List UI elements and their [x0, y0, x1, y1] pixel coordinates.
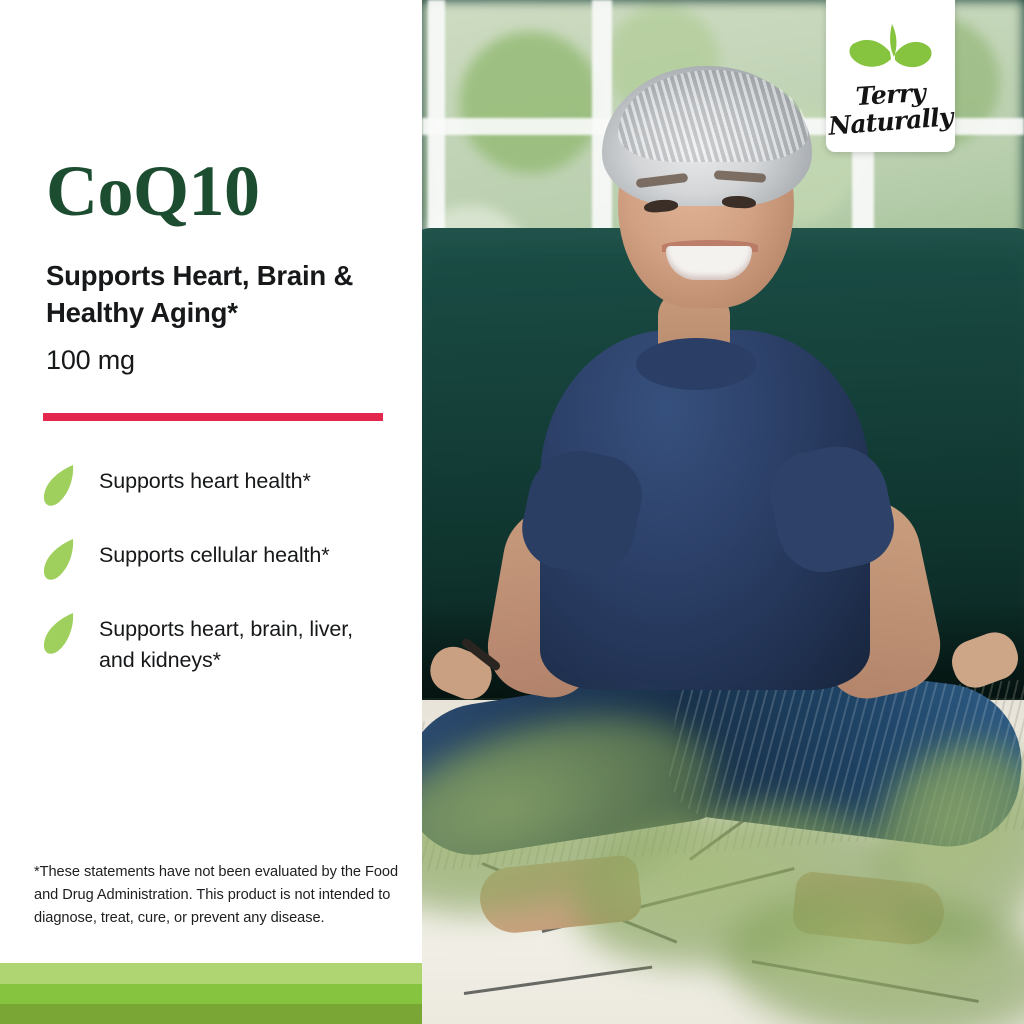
product-marketing-banner: CoQ10 Supports Heart, Brain & Healthy Ag…	[0, 0, 1024, 1024]
shirt-collar	[636, 338, 756, 390]
page-title: CoQ10	[46, 155, 260, 227]
product-dose: 100 mg	[46, 345, 135, 376]
product-info-panel: CoQ10 Supports Heart, Brain & Healthy Ag…	[0, 0, 422, 1024]
logo-wordmark: Terry Naturally	[826, 82, 955, 135]
benefits-list: Supports heart health* Supports cellular…	[43, 462, 403, 704]
footer-bar-light	[0, 963, 422, 984]
footer-color-bars	[0, 963, 422, 1024]
footer-bar-medium	[0, 984, 422, 1004]
lifestyle-photo	[422, 0, 1024, 1024]
fda-disclaimer: *These statements have not been evaluate…	[34, 861, 404, 930]
product-subtitle: Supports Heart, Brain & Healthy Aging*	[46, 258, 396, 331]
leaf-bullet-icon	[43, 612, 77, 656]
footer-bar-dark	[0, 1004, 422, 1024]
terry-naturally-logo-card[interactable]: Terry Naturally	[826, 0, 955, 152]
benefit-text: Supports cellular health*	[99, 536, 330, 571]
benefit-text: Supports heart, brain, liver, and kidney…	[99, 610, 389, 676]
accent-divider	[43, 413, 383, 421]
benefit-text: Supports heart health*	[99, 462, 311, 497]
list-item: Supports heart, brain, liver, and kidney…	[43, 610, 403, 676]
leaf-bullet-icon	[43, 464, 77, 508]
leaf-bullet-icon	[43, 538, 77, 582]
list-item: Supports heart health*	[43, 462, 403, 508]
list-item: Supports cellular health*	[43, 536, 403, 582]
